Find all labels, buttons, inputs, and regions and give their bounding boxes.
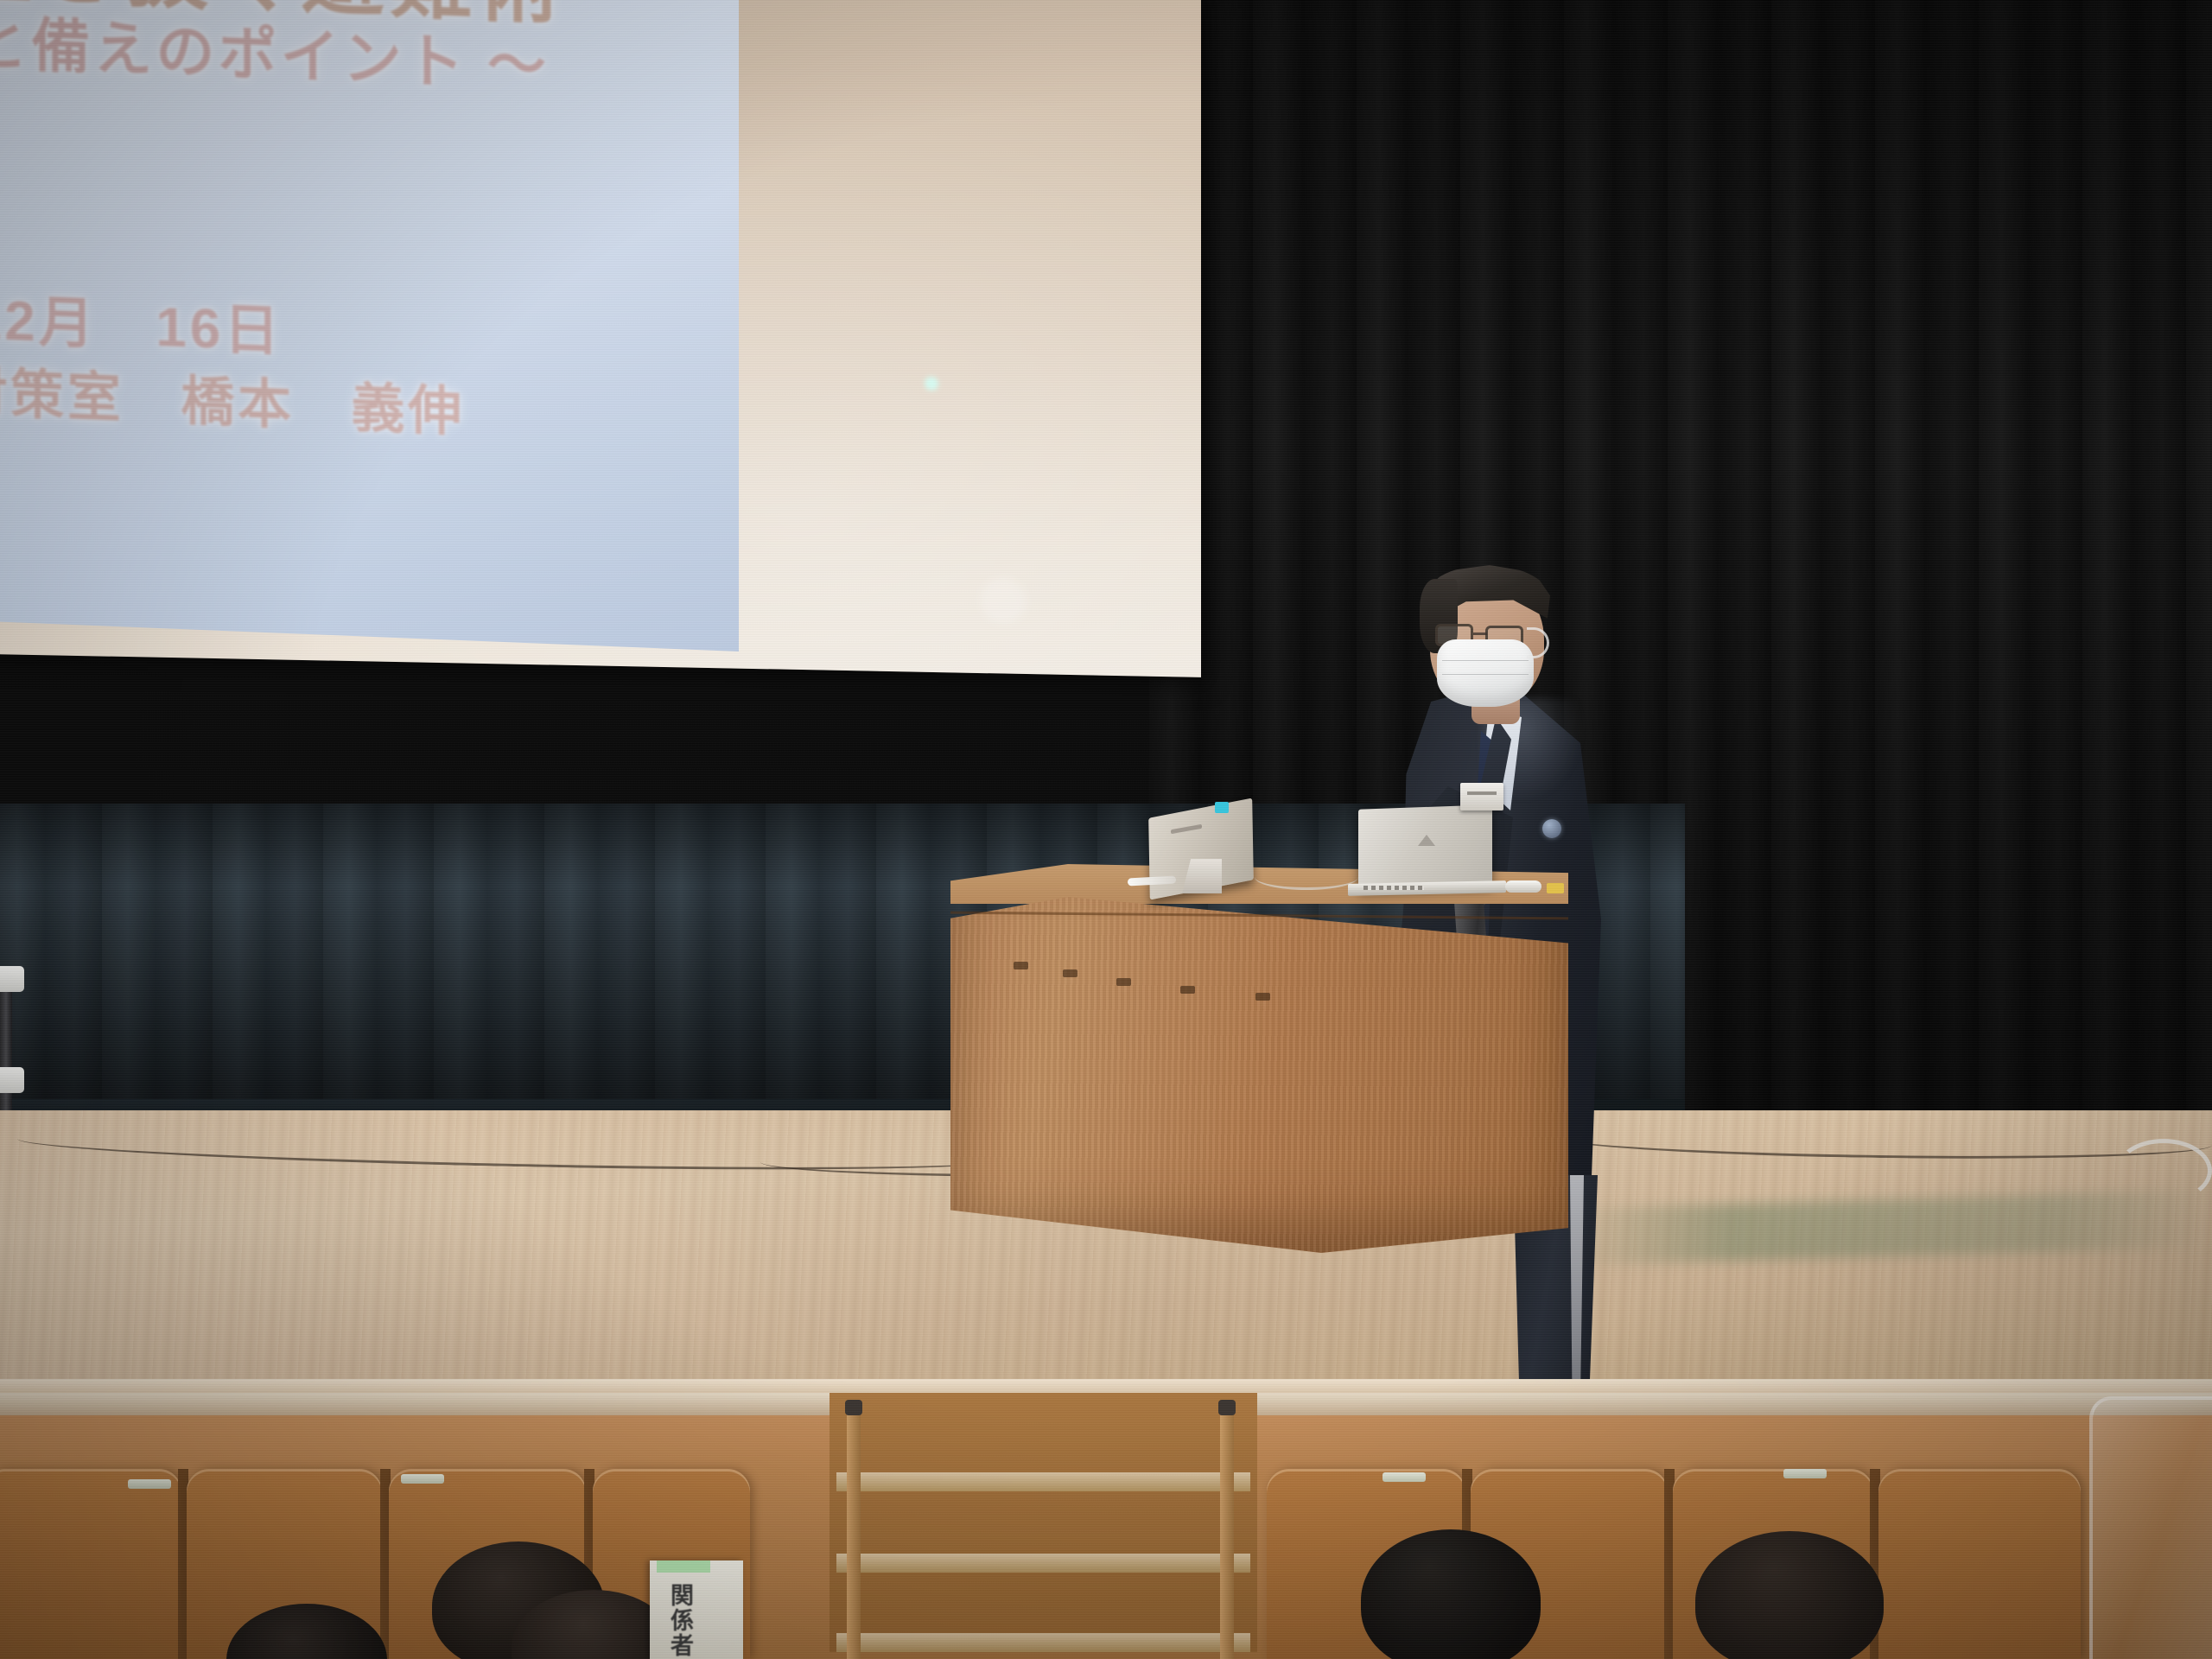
podium-slot-1: [1014, 962, 1028, 969]
face-mask: [1437, 639, 1534, 707]
laptop-keys[interactable]: [1363, 886, 1424, 890]
projected-slide: ら生き抜く避難術 行動と備えのポイント ～ 年 12月 16日 災害対策室 橋本…: [0, 0, 739, 652]
laptop-brand-logo: [1418, 835, 1435, 846]
face-mask-pleat-1: [1442, 660, 1529, 661]
stairs-body: [829, 1393, 1257, 1652]
wooden-podium: [950, 864, 1568, 1253]
white-cable-coil: [2115, 1139, 2212, 1203]
podium-wood-grain: [950, 897, 1568, 1253]
stage-access-stairs: [829, 1393, 1257, 1659]
lapel-pin: [1542, 819, 1561, 838]
lecture-hall-photo: ら生き抜く避難術 行動と備えのポイント ～ 年 12月 16日 災害対策室 橋本…: [0, 0, 2212, 1659]
stair-step-3: [836, 1633, 1250, 1652]
handrail-cap-right: [1218, 1400, 1236, 1415]
stair-step-2: [836, 1554, 1250, 1573]
seat-number-tab: [128, 1479, 171, 1489]
small-name-card: [1460, 783, 1503, 810]
face-mask-ear-strap: [1527, 627, 1549, 658]
mic-stand-cap-lower: [0, 1067, 24, 1093]
projector-hotspot: [925, 377, 938, 391]
mic-stand-cap-upper: [0, 966, 24, 992]
acrylic-seat-divider: [2089, 1396, 2212, 1659]
podium-slot-3: [1116, 978, 1131, 986]
device-cable: [1255, 864, 1358, 890]
tablet-cyan-tab: [1215, 802, 1229, 813]
podium-slot-4: [1180, 986, 1195, 994]
reserved-seat-sign-label: 関係者: [665, 1583, 695, 1658]
podium-slot-2: [1063, 969, 1077, 977]
face-mask-pleat-2: [1442, 674, 1529, 675]
silver-laptop[interactable]: [1358, 804, 1492, 888]
reserved-seat-sign: 関係者: [650, 1560, 743, 1659]
audience-seat[interactable]: [1878, 1469, 2081, 1659]
slide-author-line: 災害対策室 橋本 義伸: [0, 343, 465, 446]
audience-head: [1695, 1531, 1884, 1659]
seat-number-tab: [401, 1474, 444, 1484]
screen-light-blob: [981, 578, 1026, 624]
stair-step-1: [836, 1472, 1250, 1491]
slide-subtitle-line: 行動と備えのポイント ～: [0, 0, 550, 104]
yellow-cable-tag: [1547, 883, 1564, 893]
projection-screen: ら生き抜く避難術 行動と備えのポイント ～ 年 12月 16日 災害対策室 橋本…: [0, 0, 1201, 677]
stair-handrail-right[interactable]: [1220, 1408, 1234, 1659]
seat-number-tab: [1382, 1472, 1426, 1482]
eyeglass-bridge: [1473, 632, 1487, 635]
computer-mouse[interactable]: [1505, 880, 1541, 893]
sign-green-tape: [657, 1560, 710, 1573]
seat-number-tab: [1783, 1469, 1827, 1478]
podium-slot-5: [1255, 993, 1270, 1001]
handrail-cap-left: [845, 1400, 862, 1415]
stair-handrail-left[interactable]: [847, 1408, 861, 1659]
audience-seat[interactable]: [0, 1469, 181, 1659]
podium-front-panel: [950, 897, 1568, 1253]
